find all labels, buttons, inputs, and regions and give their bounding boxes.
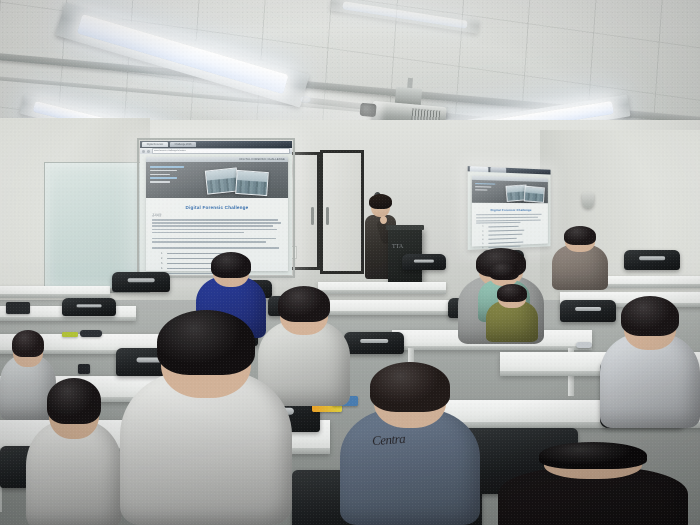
desk-item-phone[interactable] [80,330,102,337]
audience-member [486,284,538,342]
slide-paragraph [152,219,282,249]
secondary-slide-title: Digital Forensic Challenge [476,208,544,212]
audience-member-hair [370,362,450,412]
slide-list-number: 4. [161,267,165,270]
audience-member-hair [489,262,519,280]
hero-caption [150,166,184,185]
forward-icon[interactable] [147,150,150,153]
slide-subtitle: 공지사항 [152,213,282,217]
slide-list-number: 4. [482,239,486,241]
slide-list-item: 2. [482,229,544,233]
slide-list-item: 1. [482,225,544,228]
slide-list-text [488,234,522,236]
chair[interactable] [112,272,170,292]
browser-tab-bar: Digital Forensic Challenge 2013 [140,141,292,148]
slide-list-text [488,238,517,240]
slide-list-number: 2. [482,230,486,232]
desk-item-mouse[interactable] [576,342,592,348]
hero-photo-2 [235,170,269,196]
slide-list-number: 5. [482,243,486,245]
slide-list-text [488,226,518,228]
slide-list-number: 1. [161,252,165,255]
chair[interactable] [402,254,446,270]
audience-member-hair [539,442,648,469]
audience-member-hair [211,252,251,278]
projected-browser-chrome: Digital Forensic Challenge 2013 www.fore… [140,141,292,154]
audience-member [340,362,480,525]
lecture-hall-photo: Digital Forensic Challenge 2013 www.fore… [0,0,700,525]
audience-member-hair [621,296,678,336]
browser-address-bar: www.forensic-challenge.kr/notice [140,148,292,154]
podium-logo: TTA [392,244,403,250]
chair[interactable] [62,298,116,316]
hero-photo-1 [205,167,239,194]
slide-strip-text: DIGITAL FORENSIC CHALLENGE [239,158,285,161]
audience-member [120,310,292,525]
slide-list-text [488,230,524,232]
back-icon[interactable] [142,150,145,153]
slide-list-number: 2. [161,257,165,260]
wall-speaker-right [582,192,594,208]
slide-list-number: 1. [482,226,486,228]
url-field[interactable]: www.forensic-challenge.kr/notice [152,148,290,154]
audience-member-hair [47,378,102,424]
secondary-projection-screen: Digital Forensic Challenge 1.2.3.4.5.6.7… [468,166,551,250]
denim-jacket-text: Centra [371,431,405,449]
desk-item-highlighter[interactable] [62,332,78,337]
slide-list-text [488,242,523,244]
slide-list-number: 3. [161,262,165,265]
desk-item-bag [6,302,30,314]
whiteboard [44,162,148,290]
audience-member [498,442,688,525]
chair[interactable] [344,332,404,354]
audience-member [26,378,122,525]
desk-row1-left [0,286,110,298]
slide-list-number: 3. [482,234,486,236]
audience-member [552,226,608,290]
slide-hero-banner [146,162,288,198]
audience-member-hair [564,226,596,245]
slide-title: Digital Forensic Challenge [152,205,282,210]
chair[interactable] [624,250,680,270]
browser-tab-inactive[interactable]: Challenge 2013 [170,142,196,147]
audience-member [600,296,700,428]
browser-tab-active[interactable]: Digital Forensic [142,142,168,147]
desk-item-device[interactable] [78,364,90,374]
audience-member-hair [157,310,255,375]
audience-member-hair [497,284,527,302]
audience-member-hair [12,330,44,357]
door-right[interactable] [320,150,364,274]
